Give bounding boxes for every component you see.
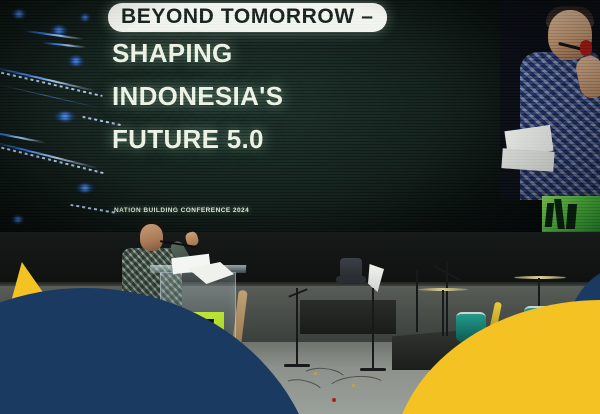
event-subtitle: NATION BUILDING CONFERENCE 2024 (114, 207, 249, 214)
cable-connector-indicator (314, 372, 317, 375)
led-screen: BEYOND TOMORROW – SHAPING INDONESIA'S FU… (0, 0, 600, 232)
speaker-head (140, 224, 163, 251)
cymbal-stand (442, 290, 444, 336)
microphone-stand-base (284, 364, 310, 367)
stage-monitor-speaker (300, 300, 396, 334)
blue-light-streak-graphic (0, 0, 126, 232)
headline-eyebrow-pill: BEYOND TOMORROW – (108, 3, 387, 32)
cable-connector-indicator (332, 398, 336, 402)
live-camera-feed (500, 0, 600, 200)
microphone-stand (416, 270, 418, 332)
headline-block: SHAPING INDONESIA'S FUTURE 5.0 (112, 40, 442, 169)
microphone-stand-base (360, 368, 386, 371)
headline-line-1: SHAPING (112, 40, 442, 66)
stage-photo-frame: BEYOND TOMORROW – SHAPING INDONESIA'S FU… (0, 0, 600, 414)
moving-head-light-base (336, 276, 366, 283)
feed-microphone-windscreen (580, 40, 592, 56)
microphone-stand (296, 288, 298, 366)
headline-line-2: INDONESIA'S (112, 83, 442, 109)
feed-paper-sheet (501, 148, 554, 172)
headline-line-3: FUTURE 5.0 (112, 126, 442, 152)
event-logo-icon (542, 196, 600, 232)
drum-cymbal (514, 276, 566, 279)
microphone-stand (372, 288, 374, 370)
headline-eyebrow-text: BEYOND TOMORROW – (121, 6, 374, 27)
cable-connector-indicator (352, 384, 355, 387)
